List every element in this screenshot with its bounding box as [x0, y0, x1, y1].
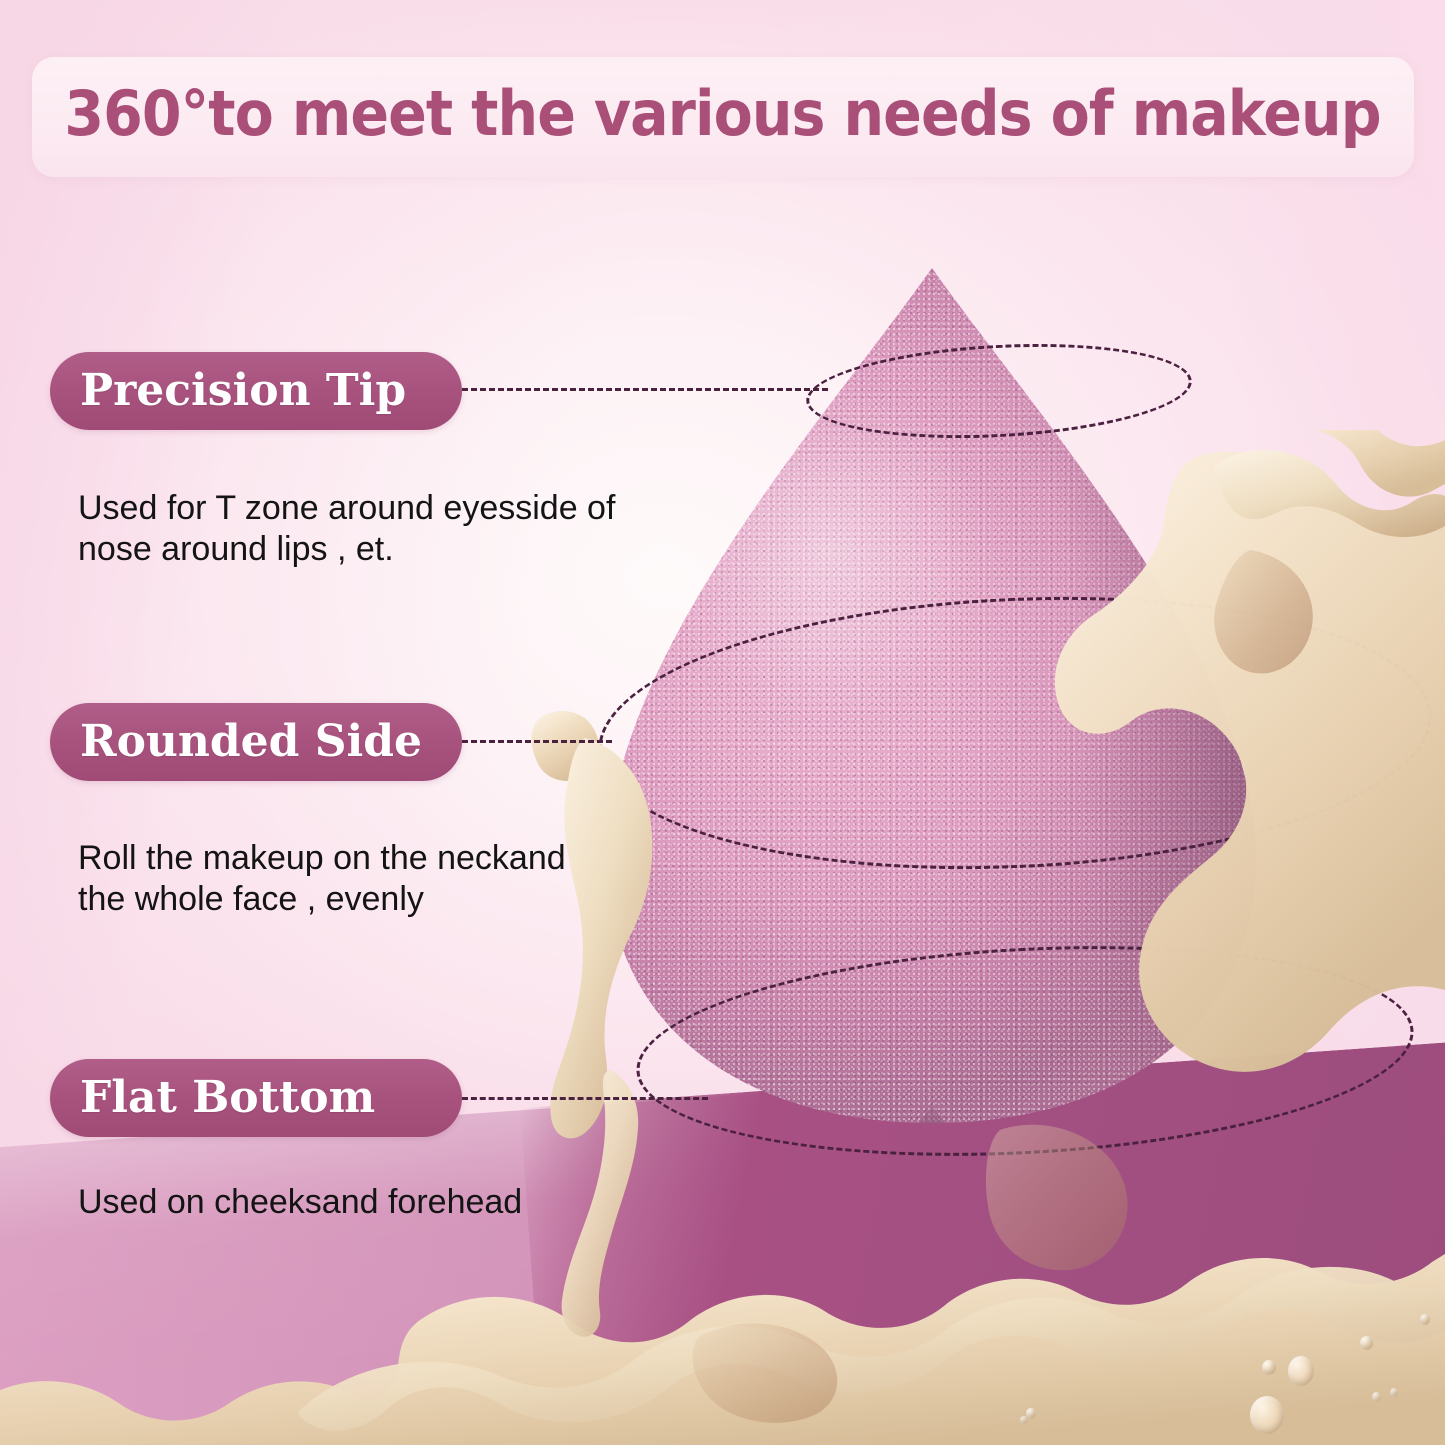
connector-line-flat-bottom	[462, 1097, 708, 1100]
feature-label: Rounded Side	[80, 720, 422, 764]
droplet-medium	[1288, 1356, 1314, 1386]
product-infographic: 360°to meet the various needs of makeup	[0, 0, 1445, 1445]
droplet-tiny-1	[1420, 1314, 1430, 1325]
feature-pill-precision-tip[interactable]: Precision Tip	[50, 352, 462, 430]
feature-description-precision-tip: Used for T zone around eyesside of nose …	[78, 488, 678, 571]
connector-line-precision-tip	[462, 388, 828, 391]
droplet-tiny-3	[1390, 1388, 1398, 1397]
connector-line-rounded-side	[462, 740, 612, 743]
droplet-large	[1250, 1396, 1284, 1434]
feature-pill-rounded-side[interactable]: Rounded Side	[50, 703, 462, 781]
droplet-small-1	[1262, 1360, 1276, 1375]
droplet-tiny-2	[1372, 1392, 1381, 1402]
feature-label: Flat Bottom	[80, 1076, 375, 1120]
feature-description-rounded-side: Roll the makeup on the neckand the whole…	[78, 838, 678, 921]
droplet-small-2	[1360, 1336, 1373, 1350]
feature-label: Precision Tip	[80, 369, 406, 413]
page-title: 360°to meet the various needs of makeup	[58, 58, 1387, 145]
droplet-tiny-5	[1020, 1416, 1028, 1424]
feature-description-flat-bottom: Used on cheeksand forehead	[78, 1182, 678, 1223]
feature-pill-flat-bottom[interactable]: Flat Bottom	[50, 1059, 462, 1137]
